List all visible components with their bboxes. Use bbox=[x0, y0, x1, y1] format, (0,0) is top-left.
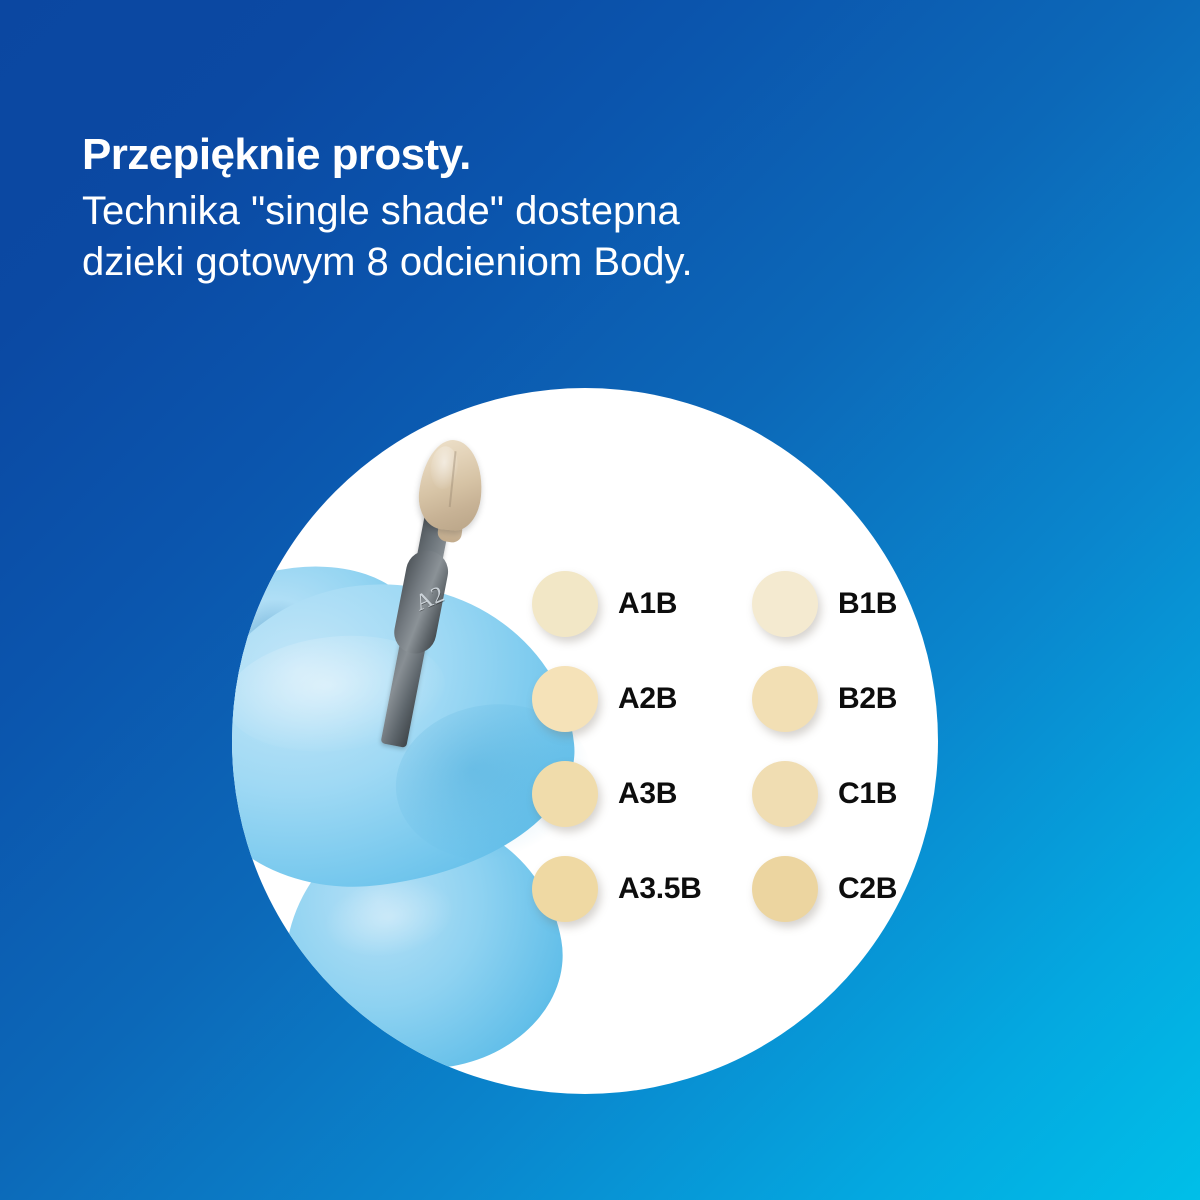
shade-item-a3b: A3B bbox=[532, 746, 752, 841]
headline-subtitle-line-1: Technika "single shade" dostepna bbox=[82, 186, 982, 237]
shade-item-a1b: A1B bbox=[532, 556, 752, 651]
shade-dot-a35b bbox=[532, 856, 598, 922]
headline-subtitle-line-2: dzieki gotowym 8 odcieniom Body. bbox=[82, 237, 982, 288]
shade-label-a1b: A1B bbox=[618, 587, 677, 621]
shade-item-c1b: C1B bbox=[752, 746, 938, 841]
shade-label-a2b: A2B bbox=[618, 682, 677, 716]
shade-item-b2b: B2B bbox=[752, 651, 938, 746]
shade-item-a35b: A3.5B bbox=[532, 841, 752, 936]
white-circle-stage: A2 A1B B1B A2B B2B bbox=[232, 388, 938, 1094]
shade-dot-c2b bbox=[752, 856, 818, 922]
headline-subtitle: Technika "single shade" dostepna dzieki … bbox=[82, 186, 982, 288]
shade-label-a3b: A3B bbox=[618, 777, 677, 811]
shade-label-b2b: B2B bbox=[838, 682, 897, 716]
shade-dot-a3b bbox=[532, 761, 598, 827]
shade-label-c2b: C2B bbox=[838, 872, 897, 906]
shade-label-c1b: C1B bbox=[838, 777, 897, 811]
shade-dot-b1b bbox=[752, 571, 818, 637]
shade-dot-c1b bbox=[752, 761, 818, 827]
shade-item-b1b: B1B bbox=[752, 556, 938, 651]
shade-label-a35b: A3.5B bbox=[618, 872, 702, 906]
poster-canvas: Przepięknie prosty. Technika "single sha… bbox=[0, 0, 1200, 1200]
shade-dot-b2b bbox=[752, 666, 818, 732]
shade-label-b1b: B1B bbox=[838, 587, 897, 621]
shade-swatch-grid: A1B B1B A2B B2B A3B C1B bbox=[532, 556, 932, 936]
shade-dot-a1b bbox=[532, 571, 598, 637]
page-title: Przepięknie prosty. bbox=[82, 130, 982, 180]
shade-dot-a2b bbox=[532, 666, 598, 732]
shade-item-c2b: C2B bbox=[752, 841, 938, 936]
headline-block: Przepięknie prosty. Technika "single sha… bbox=[82, 130, 982, 289]
shade-tab-tooth bbox=[415, 437, 486, 533]
shade-item-a2b: A2B bbox=[532, 651, 752, 746]
